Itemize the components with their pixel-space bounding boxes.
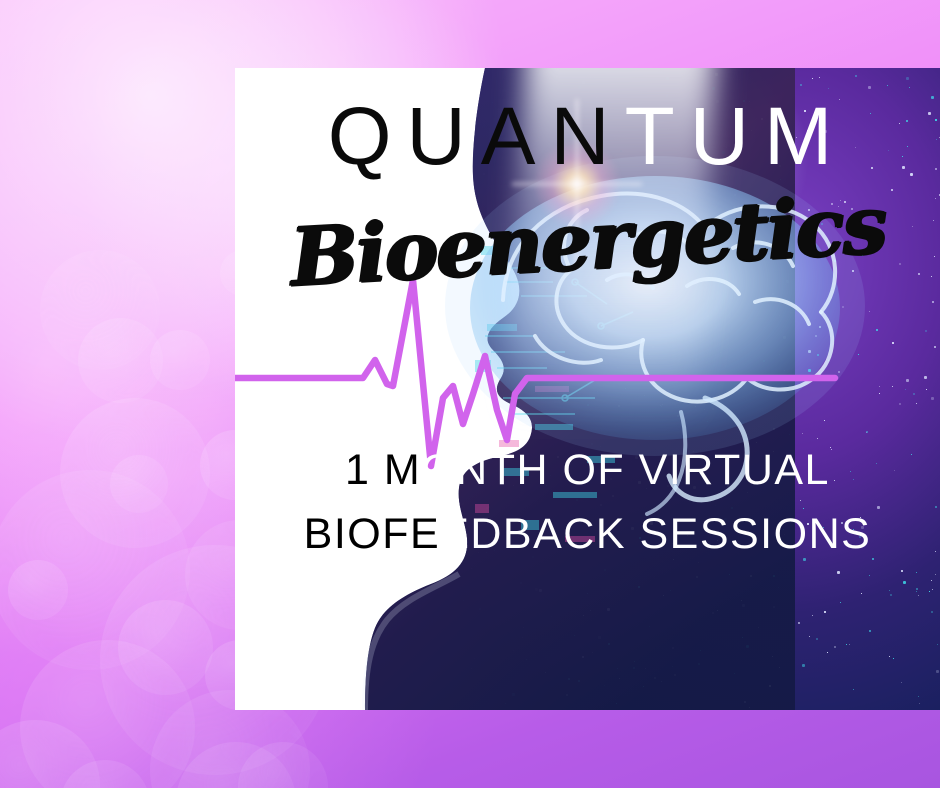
poster-canvas: QUANTUM Bioenergetics 1 MONTH OF VIRTUAL…	[0, 0, 940, 788]
artwork-card: QUANTUM Bioenergetics 1 MONTH OF VIRTUAL…	[235, 68, 940, 710]
ekg-heartbeat-line	[235, 68, 940, 710]
